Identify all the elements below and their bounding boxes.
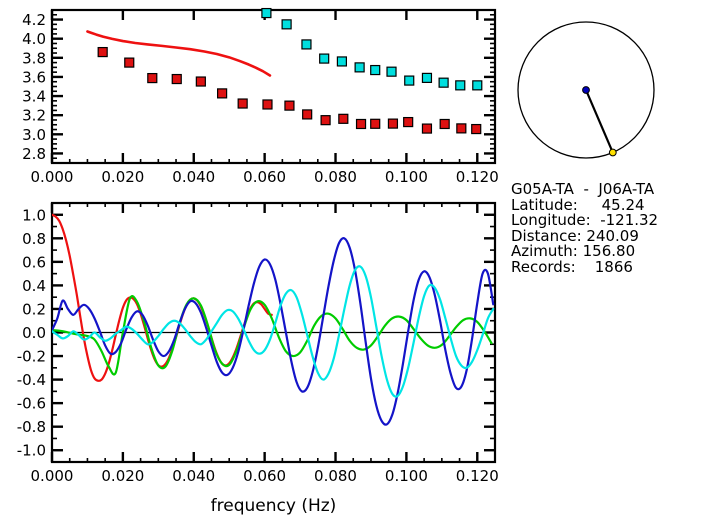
station-pair-metadata: G05A-TA - J06A-TA Latitude: 45.24 Longit… <box>511 182 701 275</box>
figure-root: 2.83.03.23.43.63.84.04.20.0000.0200.0400… <box>0 0 701 520</box>
data-marker <box>172 75 181 84</box>
plot-frame <box>52 10 495 163</box>
series-reference-curve-red <box>87 32 270 76</box>
x-tick-label: 0.060 <box>243 168 286 186</box>
y-tick-label: 1.0 <box>22 206 46 224</box>
x-axis-title: frequency (Hz) <box>211 496 337 516</box>
x-tick-label: 0.080 <box>314 168 357 186</box>
data-marker <box>303 110 312 119</box>
station-target-dot <box>609 149 616 156</box>
data-marker <box>355 63 364 72</box>
y-tick-label: 0.0 <box>22 324 46 342</box>
y-tick-label: 3.2 <box>22 107 46 125</box>
data-marker <box>404 118 413 127</box>
data-marker <box>263 100 272 109</box>
x-tick-label: 0.080 <box>314 467 357 485</box>
azimuth-panel <box>505 0 701 180</box>
y-tick-label: 0.6 <box>22 253 46 271</box>
data-marker <box>262 9 271 18</box>
x-tick-label: 0.120 <box>456 467 499 485</box>
data-marker <box>472 125 481 134</box>
spectra-plot-svg: -1.0-0.8-0.6-0.4-0.20.00.20.40.60.81.00.… <box>0 196 510 520</box>
data-marker <box>320 54 329 63</box>
y-tick-label: 4.2 <box>22 11 46 29</box>
x-tick-label: 0.100 <box>385 467 428 485</box>
data-marker <box>371 66 380 75</box>
data-marker <box>282 20 291 29</box>
series-measured-red-squares <box>98 48 481 134</box>
station-center-dot <box>583 87 590 94</box>
y-tick-label: 0.2 <box>22 300 46 318</box>
data-marker <box>439 78 448 87</box>
data-marker <box>388 119 397 128</box>
x-tick-label: 0.000 <box>31 467 74 485</box>
y-tick-label: 0.4 <box>22 277 46 295</box>
data-marker <box>196 77 205 86</box>
x-tick-label: 0.040 <box>172 168 215 186</box>
data-marker <box>457 124 466 133</box>
data-marker <box>302 40 311 49</box>
data-marker <box>473 81 482 90</box>
data-marker <box>371 119 380 128</box>
data-marker <box>456 81 465 90</box>
data-marker <box>98 48 107 57</box>
y-tick-label: -0.2 <box>17 348 46 366</box>
x-tick-label: 0.060 <box>243 467 286 485</box>
data-marker <box>440 119 449 128</box>
y-tick-label: 3.4 <box>22 88 46 106</box>
series-measured-cyan-squares <box>262 9 482 90</box>
y-tick-label: -0.8 <box>17 418 46 436</box>
data-marker <box>238 99 247 108</box>
data-marker <box>321 116 330 125</box>
y-tick-label: 2.8 <box>22 145 46 163</box>
data-marker <box>148 74 157 83</box>
x-tick-label: 0.000 <box>31 168 74 186</box>
x-tick-label: 0.100 <box>385 168 428 186</box>
x-tick-label: 0.020 <box>101 467 144 485</box>
dispersion-plot-panel: 2.83.03.23.43.63.84.04.20.0000.0200.0400… <box>0 0 510 196</box>
data-marker <box>339 114 348 123</box>
azimuth-circle-svg <box>505 0 701 180</box>
data-marker <box>285 101 294 110</box>
spectra-plot-panel: -1.0-0.8-0.6-0.4-0.20.00.20.40.60.81.00.… <box>0 196 510 520</box>
azimuth-ray <box>586 90 613 153</box>
data-marker <box>422 124 431 133</box>
data-marker <box>125 58 134 67</box>
x-tick-label: 0.120 <box>456 168 499 186</box>
metadata-records: Records: 1866 <box>511 260 701 276</box>
y-tick-label: 4.0 <box>22 30 46 48</box>
data-marker <box>337 57 346 66</box>
data-marker <box>422 73 431 82</box>
data-marker <box>218 89 227 98</box>
y-tick-label: -1.0 <box>17 442 46 460</box>
x-tick-label: 0.020 <box>101 168 144 186</box>
y-tick-label: -0.4 <box>17 371 46 389</box>
y-tick-label: -0.6 <box>17 395 46 413</box>
y-tick-label: 3.0 <box>22 126 46 144</box>
data-marker <box>357 119 366 128</box>
dispersion-plot-svg: 2.83.03.23.43.63.84.04.20.0000.0200.0400… <box>0 0 510 196</box>
y-tick-label: 3.6 <box>22 68 46 86</box>
y-tick-label: 0.8 <box>22 230 46 248</box>
series-cyan-trace <box>52 266 493 396</box>
x-tick-label: 0.040 <box>172 467 215 485</box>
y-tick-label: 3.8 <box>22 49 46 67</box>
data-marker <box>405 76 414 85</box>
data-marker <box>387 67 396 76</box>
